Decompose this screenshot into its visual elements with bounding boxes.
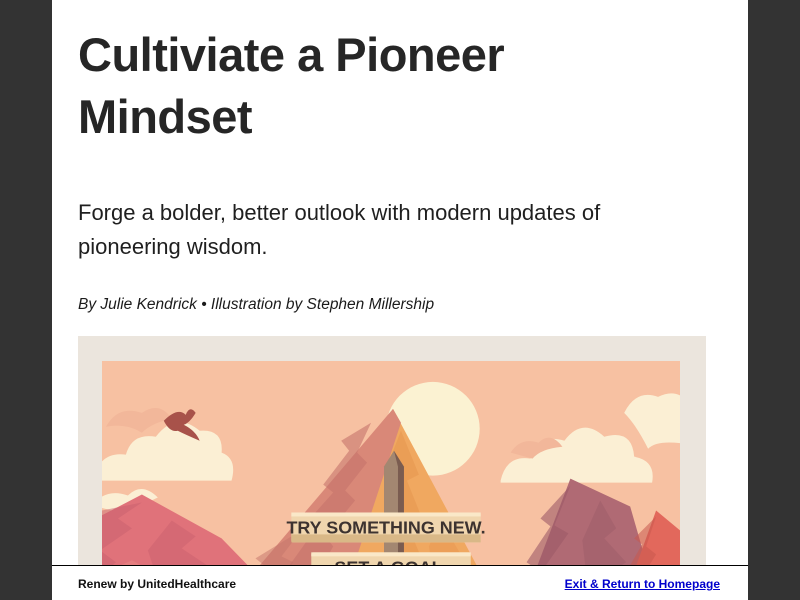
footer-brand-label: Renew by UnitedHealthcare bbox=[78, 577, 236, 591]
signpost-text-1: TRY SOMETHING NEW. bbox=[286, 518, 485, 538]
article-scroll-viewport[interactable]: Cultiviate a Pioneer Mindset Forge a bol… bbox=[52, 0, 722, 565]
footer-bar: Renew by UnitedHealthcare Exit & Return … bbox=[52, 565, 748, 600]
article-illustration-frame: TRY SOMETHING NEW. SET A GOAL. bbox=[78, 336, 706, 565]
signpost-sign-2: SET A GOAL. bbox=[311, 553, 470, 565]
illustration-artwork-svg: TRY SOMETHING NEW. SET A GOAL. bbox=[102, 361, 680, 565]
signpost-text-2: SET A GOAL. bbox=[334, 558, 447, 565]
pioneer-mountain-sunset-illustration: TRY SOMETHING NEW. SET A GOAL. bbox=[102, 361, 680, 565]
article-container: Cultiviate a Pioneer Mindset Forge a bol… bbox=[52, 0, 722, 565]
article-byline: By Julie Kendrick • Illustration by Step… bbox=[78, 296, 696, 314]
browser-page-area: Cultiviate a Pioneer Mindset Forge a bol… bbox=[52, 0, 748, 600]
exit-return-home-link[interactable]: Exit & Return to Homepage bbox=[565, 577, 720, 591]
article-subtitle: Forge a bolder, better outlook with mode… bbox=[78, 196, 658, 264]
signpost-sign-1: TRY SOMETHING NEW. bbox=[286, 513, 485, 543]
page-title: Cultiviate a Pioneer Mindset bbox=[78, 24, 618, 148]
